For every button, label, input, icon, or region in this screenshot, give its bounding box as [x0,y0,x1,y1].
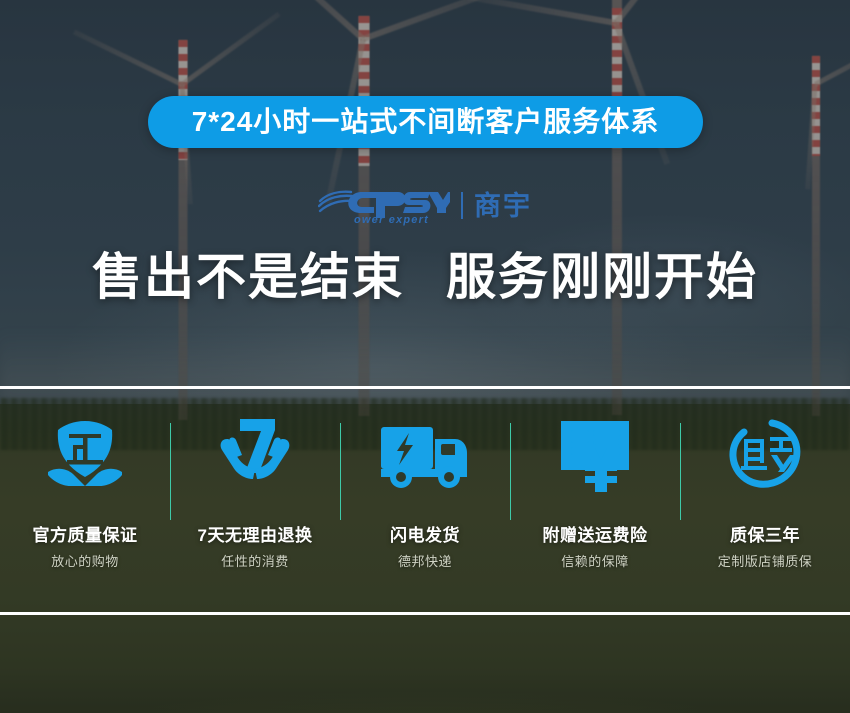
hands-seven-icon [215,415,295,497]
divider-top [0,386,850,389]
feature-subtitle: 放心的购物 [51,555,119,568]
logo-separator [461,192,463,219]
truck-lightning-icon [379,415,471,497]
divider-bottom [0,612,850,615]
feature-subtitle: 任性的消费 [221,555,289,568]
feature-item: 闪电发货 德邦快递 [340,415,510,568]
feature-title: 7天无理由退换 [198,527,313,544]
service-banner-pill: 7*24小时一站式不间断客户服务体系 [148,96,703,148]
feature-title: 附赠送运费险 [543,527,648,544]
feature-subtitle: 定制版店铺质保 [718,555,813,568]
shield-zheng-icon [42,415,128,497]
feature-title: 官方质量保证 [33,527,138,544]
service-banner-text: 7*24小时一站式不间断客户服务体系 [192,108,660,136]
feature-subtitle: 信赖的保障 [561,555,629,568]
page-title: 售出不是结束服务刚刚开始 [0,248,850,307]
feature-title: 质保三年 [730,527,800,544]
headline-right: 服务刚刚开始 [446,249,758,305]
headline-left: 售出不是结束 [92,249,404,305]
brand-name-cn: 商宇 [474,193,532,220]
feature-item: 质保三年 定制版店铺质保 [680,415,850,568]
feature-item: 附赠送运费险 信赖的保障 [510,415,680,568]
ring-lian-icon [724,415,806,497]
cpsy-logo-icon: ower expert [318,186,450,226]
document-yuan-icon [555,415,635,497]
feature-list: 官方质量保证 放心的购物 7天无理由退换 任性的消费 [0,415,850,600]
feature-item: 7天无理由退换 任性的消费 [170,415,340,568]
feature-subtitle: 德邦快递 [398,555,452,568]
hero-section: 7*24小时一站式不间断客户服务体系 ower expert [0,0,850,388]
feature-title: 闪电发货 [390,527,460,544]
feature-item: 官方质量保证 放心的购物 [0,415,170,568]
svg-text:ower expert: ower expert [354,214,429,226]
brand-logo: ower expert 商宇 [0,184,850,228]
